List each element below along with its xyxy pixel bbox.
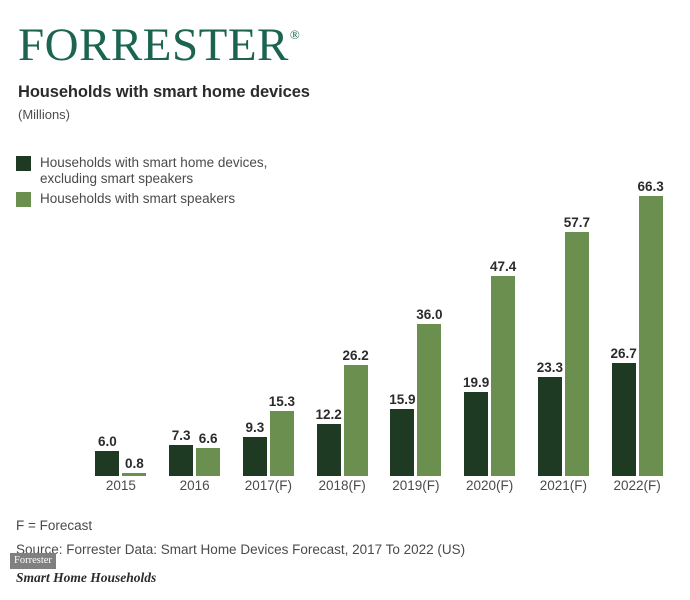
chart-page: FORRESTER ® Households with smart home d… [0, 0, 690, 600]
bar[interactable]: 9.3 [243, 437, 267, 476]
bar-value-label: 26.2 [342, 348, 368, 363]
bar-value-label: 23.3 [537, 360, 563, 375]
x-axis-tick-2022F: 2022(F) [613, 478, 660, 493]
chart-caption: Smart Home Households [16, 570, 156, 586]
bar-value-label: 26.7 [610, 346, 636, 361]
forrester-logo: FORRESTER ® [18, 22, 300, 69]
forecast-footnote: F = Forecast [16, 518, 92, 533]
x-axis-tick-2020F: 2020(F) [466, 478, 513, 493]
bar-value-label: 15.3 [269, 394, 295, 409]
bar[interactable]: 26.7 [612, 363, 636, 476]
bar[interactable]: 66.3 [639, 196, 663, 476]
forrester-badge: Forrester [10, 553, 56, 569]
bar-group: 15.936.0 [390, 180, 441, 476]
bar-group: 12.226.2 [317, 180, 368, 476]
x-axis-tick-2018F: 2018(F) [318, 478, 365, 493]
x-axis-tick-labels: 201520162017(F)2018(F)2019(F)2020(F)2021… [84, 478, 674, 498]
bar[interactable]: 26.2 [344, 365, 368, 476]
bar-value-label: 66.3 [637, 179, 663, 194]
bar-group: 9.315.3 [243, 180, 294, 476]
bar[interactable]: 6.0 [95, 451, 119, 476]
bar[interactable]: 0.8 [122, 473, 146, 476]
bar-value-label: 6.0 [98, 434, 117, 449]
bar-value-label: 7.3 [172, 428, 191, 443]
bar-group: 23.357.7 [538, 180, 589, 476]
bar-value-label: 57.7 [564, 215, 590, 230]
bar-group: 7.36.6 [169, 180, 220, 476]
bar-group: 6.00.8 [95, 180, 146, 476]
bar[interactable]: 12.2 [317, 424, 341, 476]
page-title: Households with smart home devices [18, 83, 310, 102]
bar[interactable]: 7.3 [169, 445, 193, 476]
forrester-logo-text: FORRESTER [18, 22, 289, 69]
source-footnote: Source: Forrester Data: Smart Home Devic… [16, 542, 465, 557]
x-axis-tick-2017F: 2017(F) [245, 478, 292, 493]
x-axis-tick-2015: 2015 [106, 478, 136, 493]
bar[interactable]: 57.7 [565, 232, 589, 476]
bar[interactable]: 36.0 [417, 324, 441, 476]
bar[interactable]: 47.4 [491, 276, 515, 476]
bar-value-label: 6.6 [199, 431, 218, 446]
bar[interactable]: 6.6 [196, 448, 220, 476]
bar[interactable]: 15.3 [270, 411, 294, 476]
legend-swatch-light-green [16, 192, 31, 207]
bar-value-label: 19.9 [463, 375, 489, 390]
bar[interactable]: 23.3 [538, 377, 562, 476]
bar[interactable]: 15.9 [390, 409, 414, 476]
registered-trademark-icon: ® [290, 28, 300, 41]
bar-value-label: 12.2 [315, 407, 341, 422]
bar-value-label: 47.4 [490, 259, 516, 274]
bar-value-label: 15.9 [389, 392, 415, 407]
bar-value-label: 36.0 [416, 307, 442, 322]
bar-value-label: 0.8 [125, 456, 144, 471]
bar-value-label: 9.3 [245, 420, 264, 435]
x-axis-tick-2019F: 2019(F) [392, 478, 439, 493]
x-axis-tick-2021F: 2021(F) [540, 478, 587, 493]
bar-chart-plot-area: 6.00.87.36.69.315.312.226.215.936.019.94… [84, 180, 674, 476]
bar-group: 19.947.4 [464, 180, 515, 476]
bar[interactable]: 19.9 [464, 392, 488, 476]
legend-swatch-dark-green [16, 156, 31, 171]
x-axis-tick-2016: 2016 [180, 478, 210, 493]
bar-group: 26.766.3 [612, 180, 663, 476]
chart-units-subtitle: (Millions) [18, 107, 70, 122]
